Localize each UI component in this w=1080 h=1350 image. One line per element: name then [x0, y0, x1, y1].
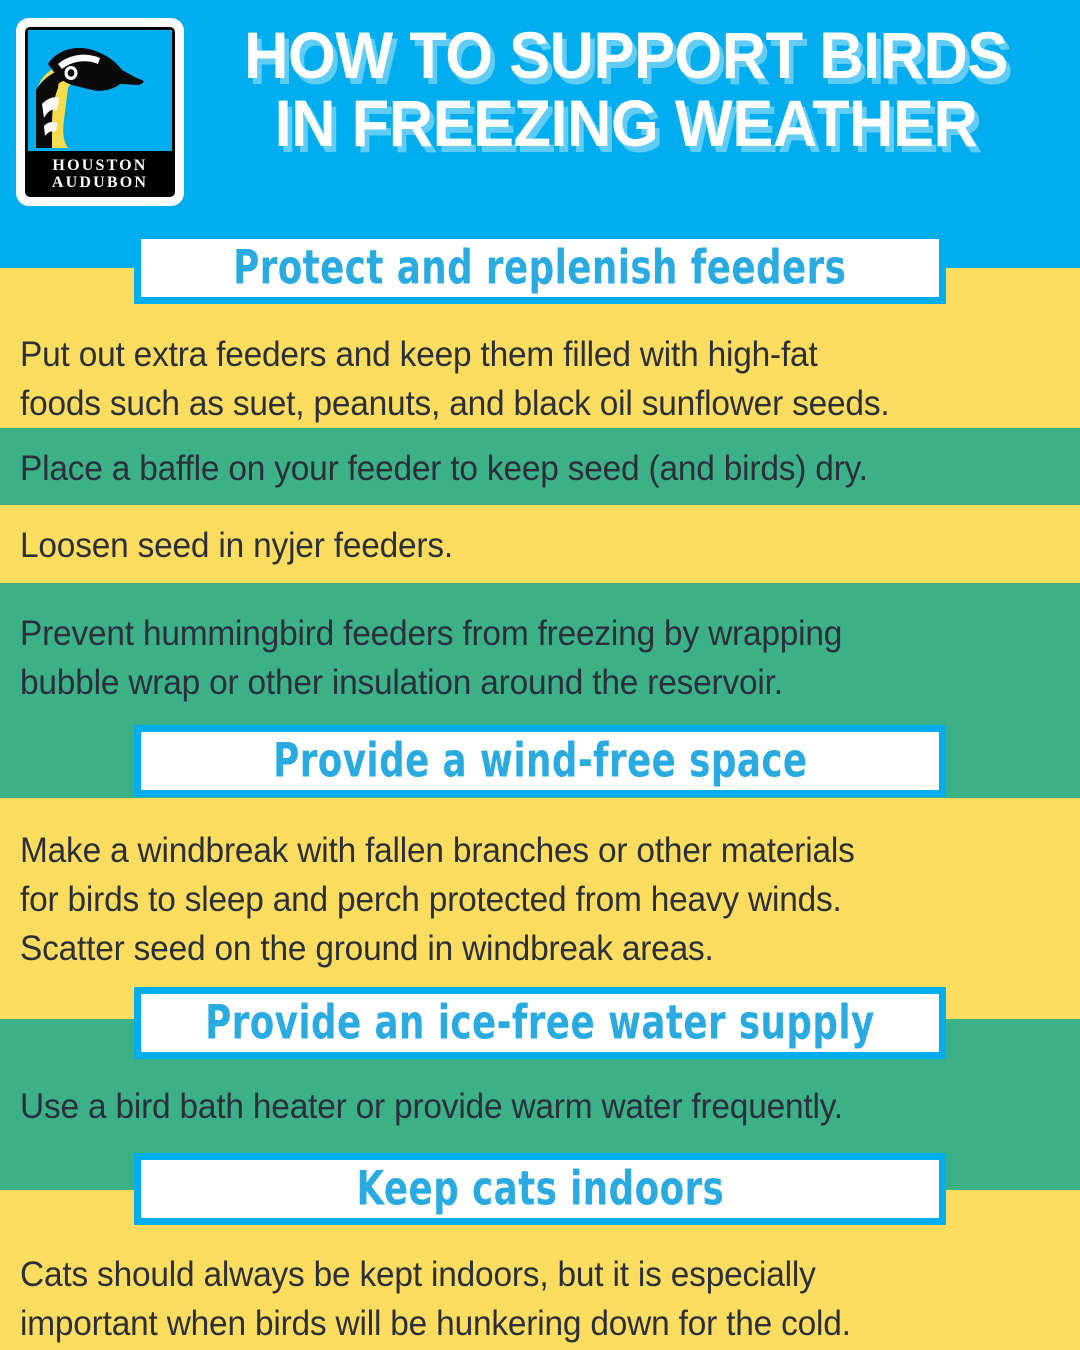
tip-text-extra-feeders: Put out extra feeders and keep them fill… — [20, 330, 1015, 428]
warbler-bird-icon — [28, 30, 148, 151]
tip-text-nyjer: Loosen seed in nyjer feeders. — [20, 521, 1015, 570]
section-header-protect-and-replenish-feeders: Protect and replenish feeders — [134, 232, 946, 304]
section-header-keep-cats-indoors: Keep cats indoors — [134, 1153, 946, 1225]
tip-text-baffle: Place a baffle on your feeder to keep se… — [20, 444, 1015, 493]
section-heading-label: Provide an ice-free water supply — [205, 999, 875, 1046]
tip-text-cats-indoors: Cats should always be kept indoors, but … — [20, 1250, 1015, 1348]
tip-text-windbreak: Make a windbreak with fallen branches or… — [20, 826, 1015, 973]
logo-word-audubon: AUDUBON — [52, 175, 148, 191]
page-title: HOW TO SUPPORT BIRDS IN FREEZING WEATHER — [222, 22, 1029, 158]
section-header-provide-an-ice-free-water-supply: Provide an ice-free water supply — [134, 987, 946, 1059]
section-heading-label: Provide a wind-free space — [273, 737, 807, 784]
section-heading-label: Keep cats indoors — [356, 1165, 724, 1212]
logo-frame: HOUSTON AUDUBON — [25, 27, 175, 197]
tip-text-hummingbird: Prevent hummingbird feeders from freezin… — [20, 609, 1015, 707]
section-header-provide-a-wind-free-space: Provide a wind-free space — [134, 725, 946, 797]
infographic-poster: HOUSTON AUDUBON HOW TO SUPPORT BIRDS IN … — [0, 0, 1080, 1350]
houston-audubon-logo: HOUSTON AUDUBON — [16, 18, 184, 206]
logo-word-houston: HOUSTON — [52, 158, 147, 174]
tip-text-bird-bath-heater: Use a bird bath heater or provide warm w… — [20, 1082, 1015, 1131]
section-heading-label: Protect and replenish feeders — [233, 244, 846, 291]
logo-wordmark: HOUSTON AUDUBON — [28, 154, 172, 194]
